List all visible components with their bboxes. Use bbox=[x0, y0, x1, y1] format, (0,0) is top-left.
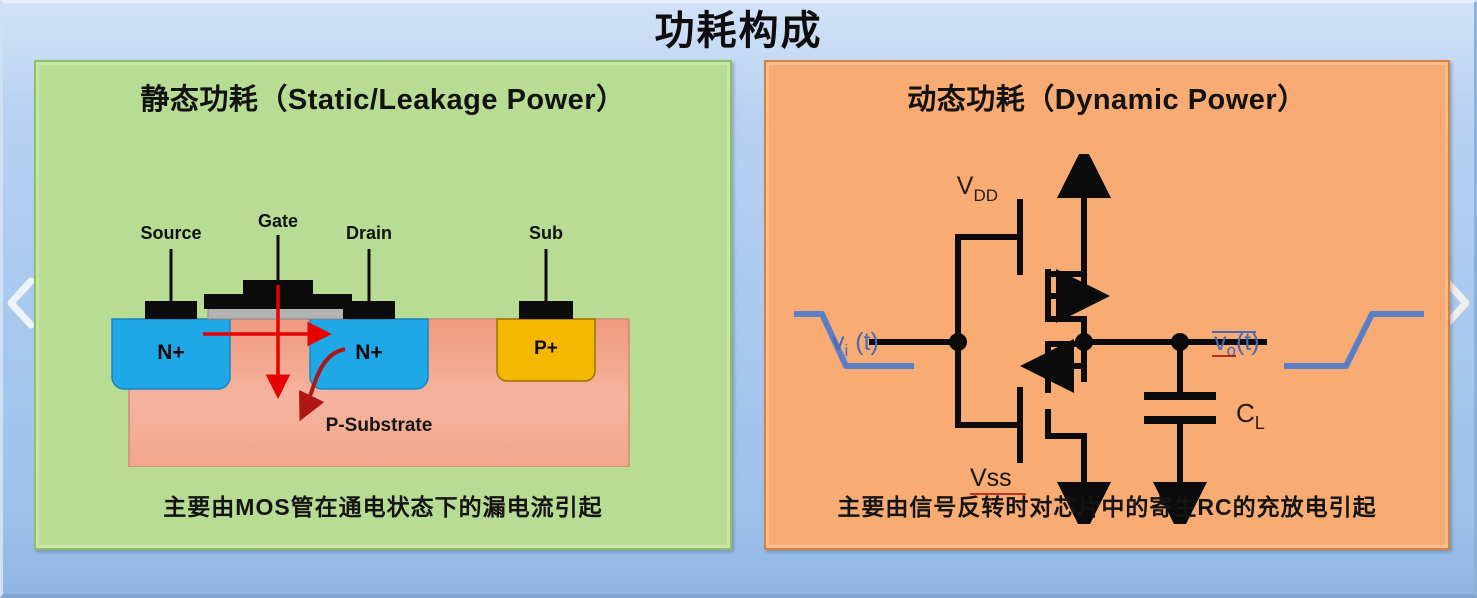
dynamic-power-panel: 动态功耗（Dynamic Power） bbox=[764, 60, 1450, 550]
dynamic-power-caption: 主要由信号反转时对芯片中的寄生RC的充放电引起 bbox=[766, 488, 1448, 522]
slide-root: 功耗构成 静态功耗（Static/Leakage Power） bbox=[0, 0, 1477, 598]
dynamic-power-title: 动态功耗（Dynamic Power） bbox=[766, 76, 1448, 118]
vi-label: vi (t) bbox=[832, 328, 879, 360]
svg-text:Gate: Gate bbox=[258, 211, 298, 231]
static-power-title: 静态功耗（Static/Leakage Power） bbox=[36, 76, 730, 118]
input-node bbox=[949, 333, 967, 351]
page-title: 功耗构成 bbox=[3, 7, 1474, 55]
static-power-panel: 静态功耗（Static/Leakage Power） bbox=[34, 60, 732, 550]
svg-text:P+: P+ bbox=[534, 338, 558, 359]
svg-text:Source: Source bbox=[140, 223, 201, 243]
mosfet-cross-section-diagram: N+ N+ P+ S bbox=[67, 209, 692, 467]
static-power-caption: 主要由MOS管在通电状态下的漏电流引起 bbox=[36, 488, 730, 522]
svg-text:N+: N+ bbox=[355, 341, 382, 364]
svg-text:N+: N+ bbox=[157, 341, 184, 364]
cl-label: CL bbox=[1236, 398, 1265, 433]
svg-text:Sub: Sub bbox=[529, 223, 563, 243]
cap-node bbox=[1171, 333, 1189, 351]
substrate-label: P-Substrate bbox=[326, 415, 433, 436]
vdd-label: VDD bbox=[957, 172, 998, 205]
output-waveform bbox=[1284, 314, 1424, 366]
svg-text:Drain: Drain bbox=[346, 223, 392, 243]
output-node bbox=[1075, 333, 1093, 351]
cmos-inverter-diagram: VDD Vss vi (t) vo(t) CL bbox=[784, 154, 1434, 524]
